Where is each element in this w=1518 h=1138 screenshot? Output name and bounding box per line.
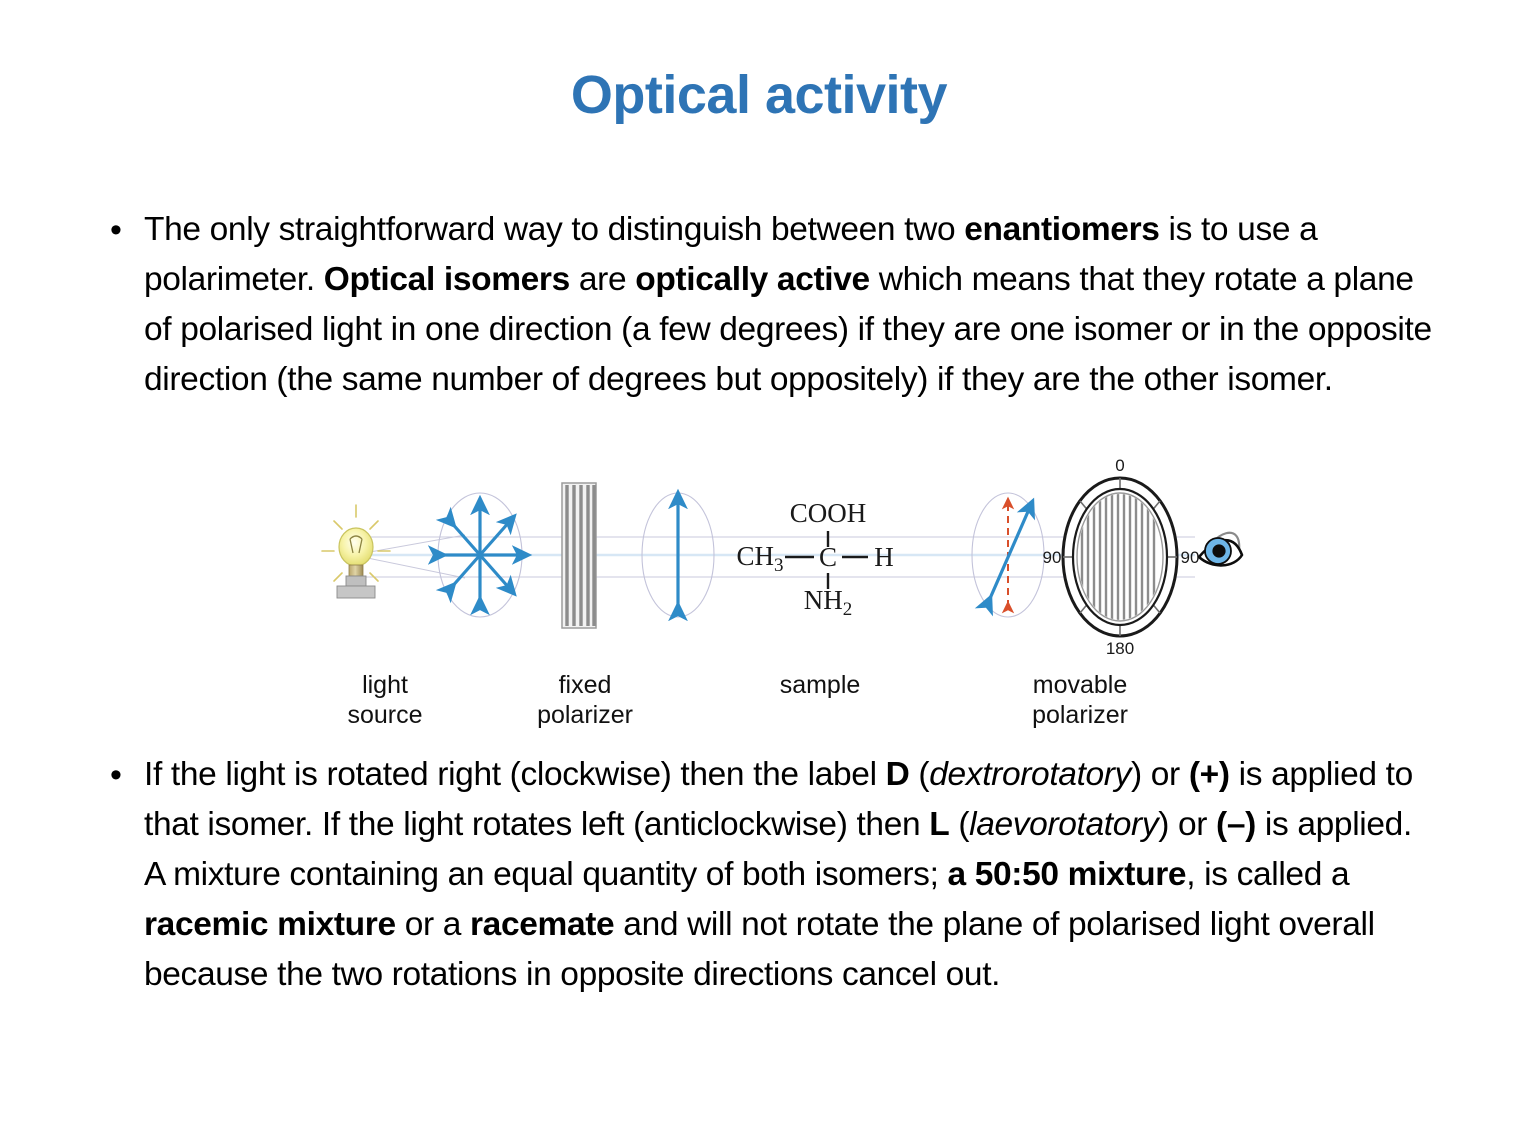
fixed-polarizer — [562, 483, 596, 628]
label-movable-polarizer-line2: polarizer — [980, 700, 1180, 730]
label-fixed-polarizer-line2: polarizer — [495, 700, 675, 730]
label-light-source: light source — [310, 670, 460, 730]
label-light-source-line1: light — [310, 670, 460, 700]
bullet-marker-icon: • — [88, 750, 144, 800]
molecule-top-group: COOH — [790, 498, 867, 528]
eye-icon — [1199, 533, 1242, 566]
bullet-marker-icon: • — [88, 205, 144, 255]
label-fixed-polarizer: fixed polarizer — [495, 670, 675, 730]
bullet-paragraph-2: • If the light is rotated right (clockwi… — [88, 750, 1433, 1000]
bullet-text-1: The only straightforward way to distingu… — [144, 205, 1433, 405]
label-movable-polarizer-line1: movable — [980, 670, 1180, 700]
movable-polarizer-dial: 0 90 90 180 — [1043, 456, 1200, 658]
dial-mark-right-90: 90 — [1181, 548, 1200, 567]
molecule-bottom-group: NH2 — [804, 585, 853, 620]
dial-mark-left-90: 90 — [1043, 548, 1062, 567]
molecule-right-atom: H — [874, 542, 894, 572]
polarimeter-diagram: COOH CH3 C H NH2 — [290, 455, 1250, 730]
unpolarised-light-ellipse — [438, 493, 522, 617]
bullet-paragraph-1: • The only straightforward way to distin… — [88, 205, 1433, 405]
dial-mark-180: 180 — [1106, 639, 1134, 658]
page-title: Optical activity — [0, 64, 1518, 126]
label-sample: sample — [730, 670, 910, 700]
sample-molecule: COOH CH3 C H NH2 — [736, 498, 893, 620]
label-fixed-polarizer-line1: fixed — [495, 670, 675, 700]
label-movable-polarizer: movable polarizer — [980, 670, 1180, 730]
light-source-icon — [322, 505, 390, 598]
molecule-left-group: CH3 — [736, 541, 783, 576]
dial-mark-0: 0 — [1115, 456, 1124, 475]
molecule-center-atom: C — [819, 542, 837, 572]
bullet-text-2: If the light is rotated right (clockwise… — [144, 750, 1433, 1000]
label-light-source-line2: source — [310, 700, 460, 730]
